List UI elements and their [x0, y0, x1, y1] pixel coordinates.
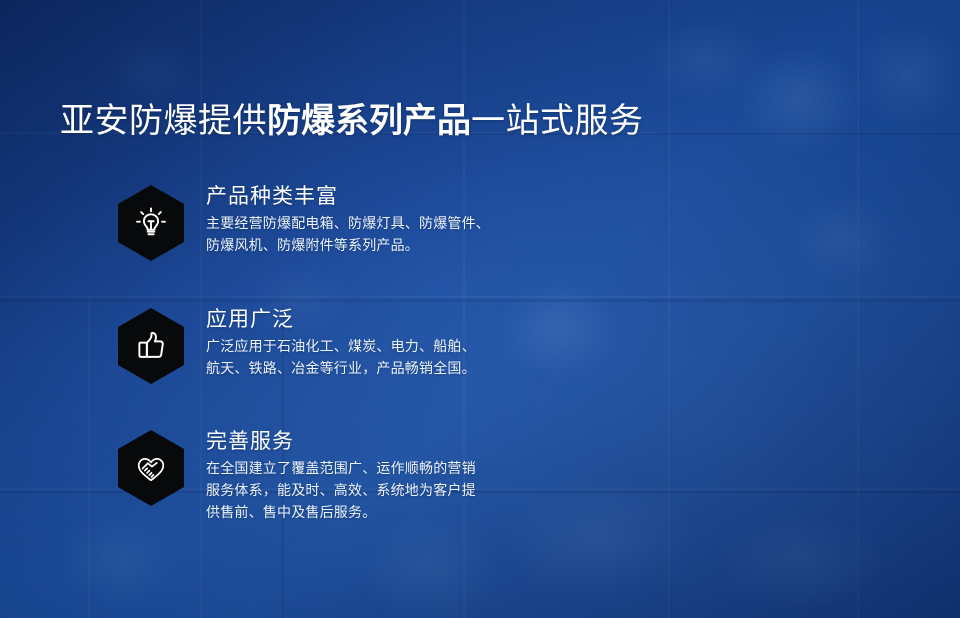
feature-text-block: 应用广泛 广泛应用于石油化工、煤炭、电力、船舶、 航天、铁路、冶金等行业，产品畅… — [206, 306, 476, 379]
feature-description-line: 防爆风机、防爆附件等系列产品。 — [206, 234, 490, 256]
feature-description: 广泛应用于石油化工、煤炭、电力、船舶、 航天、铁路、冶金等行业，产品畅销全国。 — [206, 335, 476, 379]
feature-description-line: 主要经营防爆配电箱、防爆灯具、防爆管件、 — [206, 212, 490, 234]
headline-lead: 亚安防爆提供 — [60, 102, 267, 140]
headline-trail: 一站式服务 — [471, 102, 644, 140]
feature-title: 完善服务 — [206, 428, 476, 455]
banner-headline: 亚安防爆提供防爆系列产品一站式服务 — [60, 100, 644, 142]
feature-item-product-variety: 产品种类丰富 主要经营防爆配电箱、防爆灯具、防爆管件、 防爆风机、防爆附件等系列… — [118, 183, 490, 261]
thumbs-up-icon — [118, 308, 184, 384]
feature-description: 在全国建立了覆盖范围广、运作顺畅的营销 服务体系，能及时、高效、系统地为客户提 … — [206, 457, 476, 523]
handshake-heart-icon — [118, 430, 184, 506]
lightbulb-idea-icon — [118, 185, 184, 261]
headline-emphasis: 防爆系列产品 — [267, 102, 471, 140]
feature-title: 产品种类丰富 — [206, 183, 490, 210]
feature-description-line: 供售前、售中及售后服务。 — [206, 501, 476, 523]
feature-item-complete-service: 完善服务 在全国建立了覆盖范围广、运作顺畅的营销 服务体系，能及时、高效、系统地… — [118, 428, 476, 523]
feature-description: 主要经营防爆配电箱、防爆灯具、防爆管件、 防爆风机、防爆附件等系列产品。 — [206, 212, 490, 256]
feature-title: 应用广泛 — [206, 306, 476, 333]
feature-text-block: 产品种类丰富 主要经营防爆配电箱、防爆灯具、防爆管件、 防爆风机、防爆附件等系列… — [206, 183, 490, 256]
feature-text-block: 完善服务 在全国建立了覆盖范围广、运作顺畅的营销 服务体系，能及时、高效、系统地… — [206, 428, 476, 523]
feature-description-line: 航天、铁路、冶金等行业，产品畅销全国。 — [206, 357, 476, 379]
promo-banner: 亚安防爆提供防爆系列产品一站式服务 — [0, 0, 960, 618]
feature-description-line: 广泛应用于石油化工、煤炭、电力、船舶、 — [206, 335, 476, 357]
feature-item-wide-application: 应用广泛 广泛应用于石油化工、煤炭、电力、船舶、 航天、铁路、冶金等行业，产品畅… — [118, 306, 476, 384]
feature-description-line: 在全国建立了覆盖范围广、运作顺畅的营销 — [206, 457, 476, 479]
feature-description-line: 服务体系，能及时、高效、系统地为客户提 — [206, 479, 476, 501]
